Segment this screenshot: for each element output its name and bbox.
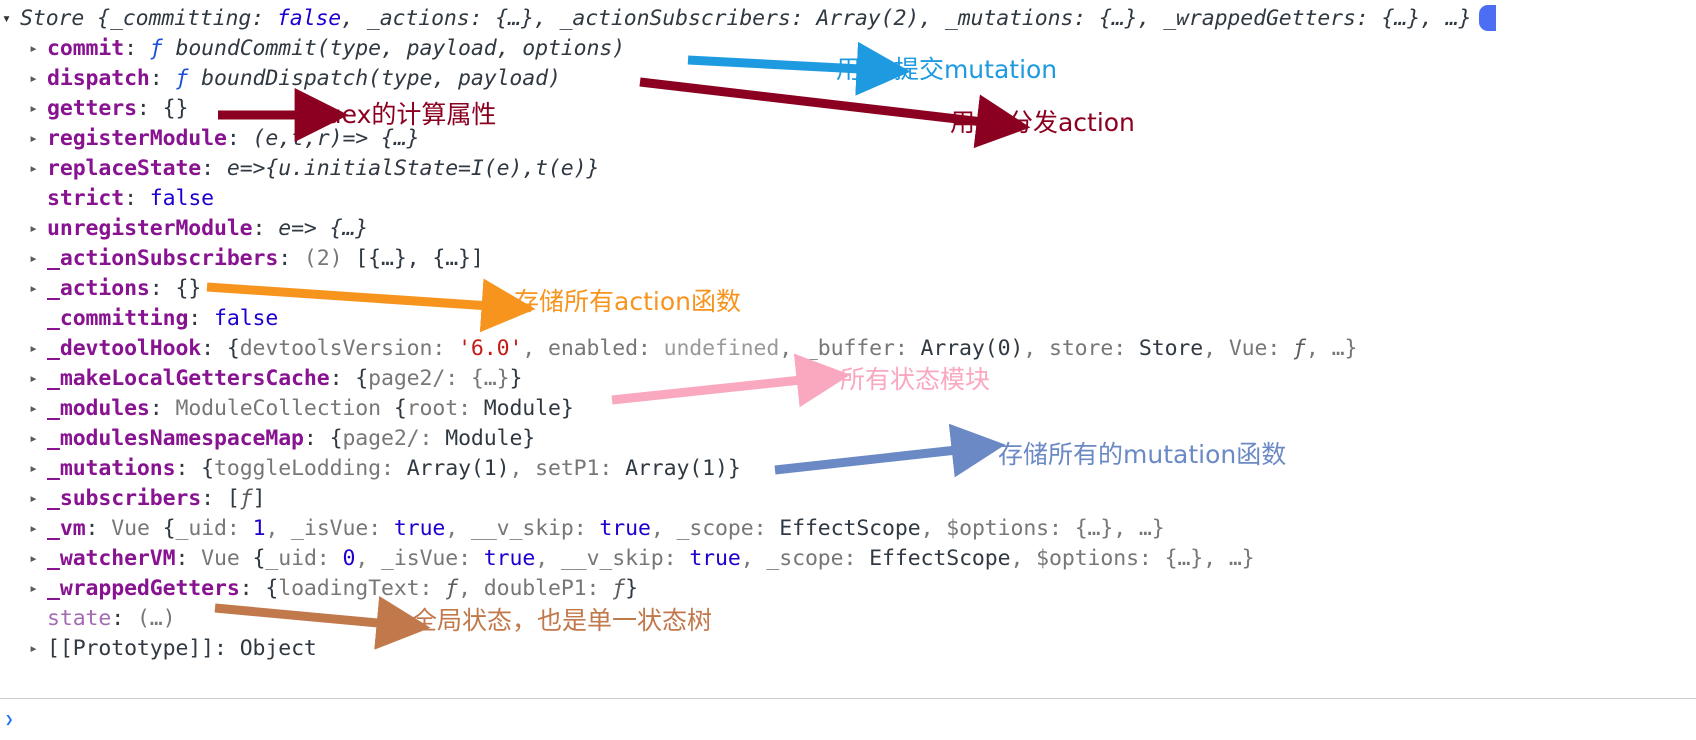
property-key-_devtoolHook: _devtoolHook bbox=[47, 336, 201, 361]
property-value-_mutations-3: , setP1: bbox=[509, 456, 625, 481]
prompt-caret-icon: ❯ bbox=[5, 712, 13, 728]
property-colon: : bbox=[304, 426, 330, 451]
property-key-replaceState: replaceState bbox=[47, 156, 201, 181]
tree-row-_modulesNamespaceMap[interactable]: ▸_modulesNamespaceMap: {page2/: Module} bbox=[0, 423, 1696, 453]
property-value-_modules-2: root: bbox=[407, 396, 484, 421]
property-key-_vm: _vm bbox=[47, 516, 86, 541]
property-colon: : bbox=[201, 336, 227, 361]
property-value-_vm-10: , $options: {…}, …} bbox=[921, 516, 1165, 541]
property-value-_devtoolHook-12: , …} bbox=[1306, 336, 1357, 361]
tree-row-getters[interactable]: ▸getters: {} bbox=[0, 93, 1696, 123]
tree-row-_actionSubscribers[interactable]: ▸_actionSubscribers: (2) [{…}, {…}] bbox=[0, 243, 1696, 273]
property-key-_watcherVM: _watcherVM bbox=[47, 546, 175, 571]
property-value-_devtoolHook-7: Array(0) bbox=[921, 336, 1024, 361]
root-preview-token-0: Store bbox=[20, 6, 97, 31]
property-key-_modules: _modules bbox=[47, 396, 150, 421]
property-value-_vm-2: _uid: bbox=[176, 516, 253, 541]
property-value-_actionSubscribers-0: (2) bbox=[304, 246, 343, 271]
property-value-_subscribers-0: [ bbox=[227, 486, 240, 511]
property-value-_wrappedGetters-4: ƒ bbox=[612, 576, 625, 601]
property-value-_modulesNamespaceMap-2: Module bbox=[445, 426, 522, 451]
property-value-_watcherVM-4: , _isVue: bbox=[355, 546, 483, 571]
property-value-_modules-0: ModuleCollection bbox=[175, 396, 393, 421]
property-key-_committing: _committing bbox=[47, 306, 188, 331]
property-value-unregisterModule-0: e=> {…} bbox=[278, 216, 368, 241]
property-colon: : bbox=[124, 36, 150, 61]
property-colon: : bbox=[188, 306, 214, 331]
root-preview-token-5: Array(2) bbox=[816, 6, 919, 31]
property-key-registerModule: registerModule bbox=[47, 126, 227, 151]
property-value-_modulesNamespaceMap-0: { bbox=[330, 426, 343, 451]
property-value-_vm-3: 1 bbox=[253, 516, 266, 541]
chevron-right-icon[interactable]: ▸ bbox=[29, 153, 45, 183]
chevron-right-icon[interactable]: ▸ bbox=[29, 453, 45, 483]
property-colon: : bbox=[253, 216, 279, 241]
property-value-_modules-1: { bbox=[394, 396, 407, 421]
property-value-registerModule-0: (e,t,r)=> {…} bbox=[253, 126, 420, 151]
property-value-_makeLocalGettersCache-1: page2/: {…} bbox=[368, 366, 509, 391]
chevron-right-icon[interactable]: ▸ bbox=[29, 573, 45, 603]
chevron-right-icon[interactable]: ▸ bbox=[29, 93, 45, 123]
property-value-_vm-7: true bbox=[599, 516, 650, 541]
tree-row-_modules[interactable]: ▸_modules: ModuleCollection {root: Modul… bbox=[0, 393, 1696, 423]
property-key-strict: strict bbox=[47, 186, 124, 211]
property-value-_subscribers-2: ] bbox=[253, 486, 266, 511]
property-colon: : bbox=[86, 516, 112, 541]
chevron-right-icon[interactable]: ▸ bbox=[29, 63, 45, 93]
chevron-right-icon[interactable]: ▸ bbox=[29, 633, 45, 663]
tree-row-strict[interactable]: ▸strict: false bbox=[0, 183, 1696, 213]
property-value-_watcherVM-6: , __v_skip: bbox=[535, 546, 689, 571]
property-value-_committing-0: false bbox=[214, 306, 278, 331]
row-spacer: ▸ bbox=[29, 603, 45, 633]
root-preview-token-4: , _actions: {…}, _actionSubscribers: bbox=[341, 6, 816, 31]
property-colon: : bbox=[124, 186, 150, 211]
property-value-_vm-9: EffectScope bbox=[779, 516, 920, 541]
property-value-_makeLocalGettersCache-2: } bbox=[509, 366, 522, 391]
console-prompt-bar[interactable]: ❯ bbox=[0, 699, 1696, 740]
row-spacer: ▸ bbox=[29, 183, 45, 213]
property-value-_devtoolHook-0: { bbox=[227, 336, 240, 361]
property-value-_vm-8: , _scope: bbox=[651, 516, 779, 541]
property-key-unregisterModule: unregisterModule bbox=[47, 216, 253, 241]
tree-row-replaceState[interactable]: ▸replaceState: e=>{u.initialState=I(e),t… bbox=[0, 153, 1696, 183]
property-value-_watcherVM-9: EffectScope bbox=[869, 546, 1010, 571]
property-value-getters-0: {} bbox=[163, 96, 189, 121]
chevron-right-icon[interactable]: ▸ bbox=[29, 513, 45, 543]
property-colon: : bbox=[111, 606, 137, 631]
property-value-_devtoolHook-4: enabled: bbox=[548, 336, 664, 361]
property-value-replaceState-0: e=>{u.initialState=I(e),t(e)} bbox=[227, 156, 599, 181]
property-value-_watcherVM-5: true bbox=[484, 546, 535, 571]
property-key-_modulesNamespaceMap: _modulesNamespaceMap bbox=[47, 426, 304, 451]
property-value-_watcherVM-1: { bbox=[253, 546, 266, 571]
root-preview-token-1: { bbox=[97, 6, 110, 31]
tree-row-_wrappedGetters[interactable]: ▸_wrappedGetters: {loadingText: ƒ, doubl… bbox=[0, 573, 1696, 603]
property-colon: : bbox=[175, 456, 201, 481]
property-colon: : bbox=[240, 576, 266, 601]
property-colon: : bbox=[227, 126, 253, 151]
property-value-_watcherVM-2: _uid: bbox=[265, 546, 342, 571]
property-value-_devtoolHook-9: Store bbox=[1139, 336, 1203, 361]
property-colon: : bbox=[150, 276, 176, 301]
property-value-_mutations-1: toggleLodding: bbox=[214, 456, 407, 481]
property-value-dispatch-1: boundDispatch(type, payload) bbox=[188, 66, 560, 91]
property-value-commit-0: ƒ bbox=[150, 36, 163, 61]
tree-row-prototype[interactable]: ▸[[Prototype]]: Object bbox=[0, 633, 1696, 663]
chevron-right-icon[interactable]: ▸ bbox=[29, 483, 45, 513]
property-key-state: state bbox=[47, 606, 111, 631]
property-value-_actionSubscribers-1: [{…}, {…}] bbox=[342, 246, 483, 271]
tree-row-_mutations[interactable]: ▸_mutations: {toggleLodding: Array(1), s… bbox=[0, 453, 1696, 483]
property-value-_mutations-2: Array(1) bbox=[407, 456, 510, 481]
object-root-row[interactable]: ▾Store {_committing: false, _actions: {…… bbox=[0, 3, 1696, 33]
property-value-_wrappedGetters-3: , doubleP1: bbox=[458, 576, 612, 601]
annotation-label-getters: vuex的计算属性 bbox=[311, 102, 496, 127]
chevron-right-icon[interactable]: ▸ bbox=[29, 33, 45, 63]
root-preview-token-2: _committing: bbox=[110, 6, 277, 31]
property-key-_actions: _actions bbox=[47, 276, 150, 301]
devtools-console-panel: ▾Store {_committing: false, _actions: {…… bbox=[0, 0, 1696, 740]
chevron-right-icon[interactable]: ▸ bbox=[29, 243, 45, 273]
property-value-_mutations-4: Array(1) bbox=[625, 456, 728, 481]
property-value-_modules-3: Module bbox=[484, 396, 561, 421]
annotation-label-modules: 所有状态模块 bbox=[840, 367, 990, 392]
tree-row-_subscribers[interactable]: ▸_subscribers: [ƒ] bbox=[0, 483, 1696, 513]
property-key-_actionSubscribers: _actionSubscribers bbox=[47, 246, 278, 271]
property-value-_watcherVM-10: , $options: {…}, …} bbox=[1010, 546, 1254, 571]
property-colon: : bbox=[201, 486, 227, 511]
property-key-_mutations: _mutations bbox=[47, 456, 175, 481]
chevron-down-icon[interactable]: ▾ bbox=[2, 3, 18, 33]
property-colon: : bbox=[330, 366, 356, 391]
property-value-_modules-4: } bbox=[561, 396, 574, 421]
property-value-_watcherVM-3: 0 bbox=[342, 546, 355, 571]
property-value-_vm-1: { bbox=[163, 516, 176, 541]
property-colon: : bbox=[150, 396, 176, 421]
property-value-_wrappedGetters-5: } bbox=[625, 576, 638, 601]
property-value-_devtoolHook-5: undefined bbox=[664, 336, 780, 361]
object-inspector-tree[interactable]: ▾Store {_committing: false, _actions: {…… bbox=[0, 0, 1696, 663]
chevron-right-icon[interactable]: ▸ bbox=[29, 123, 45, 153]
property-value-commit-1: boundCommit(type, payload, options) bbox=[163, 36, 625, 61]
annotation-label-state: 全局状态，也是单一状态树 bbox=[412, 608, 712, 633]
property-value-_modulesNamespaceMap-1: page2/: bbox=[342, 426, 445, 451]
tree-row-registerModule[interactable]: ▸registerModule: (e,t,r)=> {…} bbox=[0, 123, 1696, 153]
property-value-state-0: (…) bbox=[137, 606, 176, 631]
chevron-right-icon[interactable]: ▸ bbox=[29, 543, 45, 573]
property-colon: : bbox=[278, 246, 304, 271]
tree-row-_committing[interactable]: ▸_committing: false bbox=[0, 303, 1696, 333]
annotation-label-commit: 用于 提交mutation bbox=[836, 57, 1057, 82]
property-value-_devtoolHook-6: , _buffer: bbox=[779, 336, 920, 361]
property-value-_vm-5: true bbox=[394, 516, 445, 541]
property-value-_mutations-0: { bbox=[201, 456, 214, 481]
property-value-prototype-0: Object bbox=[240, 636, 317, 661]
property-key-prototype: [[Prototype]] bbox=[47, 636, 214, 661]
property-value-_subscribers-1: ƒ bbox=[240, 486, 253, 511]
property-value-_devtoolHook-8: , store: bbox=[1023, 336, 1139, 361]
property-value-_devtoolHook-2: '6.0' bbox=[458, 336, 522, 361]
property-value-_watcherVM-7: true bbox=[689, 546, 740, 571]
property-value-_vm-6: , __v_skip: bbox=[445, 516, 599, 541]
property-value-_wrappedGetters-1: loadingText: bbox=[278, 576, 445, 601]
property-value-_devtoolHook-10: , Vue: bbox=[1203, 336, 1293, 361]
annotation-label-dispatch: 用于 分发action bbox=[950, 110, 1135, 135]
property-value-_mutations-5: } bbox=[728, 456, 741, 481]
annotation-label-actions: 存储所有action函数 bbox=[514, 289, 741, 314]
property-colon: : bbox=[214, 636, 240, 661]
property-value-_devtoolHook-3: , bbox=[522, 336, 548, 361]
property-colon: : bbox=[175, 546, 201, 571]
row-spacer: ▸ bbox=[29, 303, 45, 333]
property-value-_wrappedGetters-0: { bbox=[265, 576, 278, 601]
property-colon: : bbox=[201, 156, 227, 181]
property-key-_wrappedGetters: _wrappedGetters bbox=[47, 576, 240, 601]
property-value-strict-0: false bbox=[150, 186, 214, 211]
property-value-_wrappedGetters-2: ƒ bbox=[445, 576, 458, 601]
tree-row-_actions[interactable]: ▸_actions: {} bbox=[0, 273, 1696, 303]
property-colon: : bbox=[150, 66, 176, 91]
property-key-dispatch: dispatch bbox=[47, 66, 150, 91]
property-value-_devtoolHook-11: ƒ bbox=[1293, 336, 1306, 361]
property-key-_makeLocalGettersCache: _makeLocalGettersCache bbox=[47, 366, 330, 391]
property-value-_modulesNamespaceMap-3: } bbox=[522, 426, 535, 451]
property-key-_subscribers: _subscribers bbox=[47, 486, 201, 511]
store-badge[interactable] bbox=[1479, 5, 1496, 31]
property-value-_devtoolHook-1: devtoolsVersion: bbox=[240, 336, 458, 361]
tree-row-_watcherVM[interactable]: ▸_watcherVM: Vue {_uid: 0, _isVue: true,… bbox=[0, 543, 1696, 573]
property-value-_watcherVM-8: , _scope: bbox=[741, 546, 869, 571]
chevron-right-icon[interactable]: ▸ bbox=[29, 363, 45, 393]
property-value-dispatch-0: ƒ bbox=[175, 66, 188, 91]
property-value-_makeLocalGettersCache-0: { bbox=[355, 366, 368, 391]
chevron-right-icon[interactable]: ▸ bbox=[29, 213, 45, 243]
property-colon: : bbox=[137, 96, 163, 121]
property-value-_vm-4: , _isVue: bbox=[265, 516, 393, 541]
tree-row-_vm[interactable]: ▸_vm: Vue {_uid: 1, _isVue: true, __v_sk… bbox=[0, 513, 1696, 543]
root-preview-token-6: , _mutations: {…}, _wrappedGetters: {…},… bbox=[919, 6, 1471, 31]
property-value-_vm-0: Vue bbox=[111, 516, 162, 541]
chevron-right-icon[interactable]: ▸ bbox=[29, 333, 45, 363]
property-value-_actions-0: {} bbox=[175, 276, 201, 301]
tree-row-state[interactable]: ▸state: (…) bbox=[0, 603, 1696, 633]
chevron-right-icon[interactable]: ▸ bbox=[29, 273, 45, 303]
annotation-label-mutations: 存储所有的mutation函数 bbox=[998, 442, 1286, 467]
chevron-right-icon[interactable]: ▸ bbox=[29, 423, 45, 453]
property-key-getters: getters bbox=[47, 96, 137, 121]
root-preview-token-3: false bbox=[277, 6, 341, 31]
property-key-commit: commit bbox=[47, 36, 124, 61]
property-value-_watcherVM-0: Vue bbox=[201, 546, 252, 571]
tree-row-unregisterModule[interactable]: ▸unregisterModule: e=> {…} bbox=[0, 213, 1696, 243]
tree-row-_devtoolHook[interactable]: ▸_devtoolHook: {devtoolsVersion: '6.0', … bbox=[0, 333, 1696, 363]
chevron-right-icon[interactable]: ▸ bbox=[29, 393, 45, 423]
